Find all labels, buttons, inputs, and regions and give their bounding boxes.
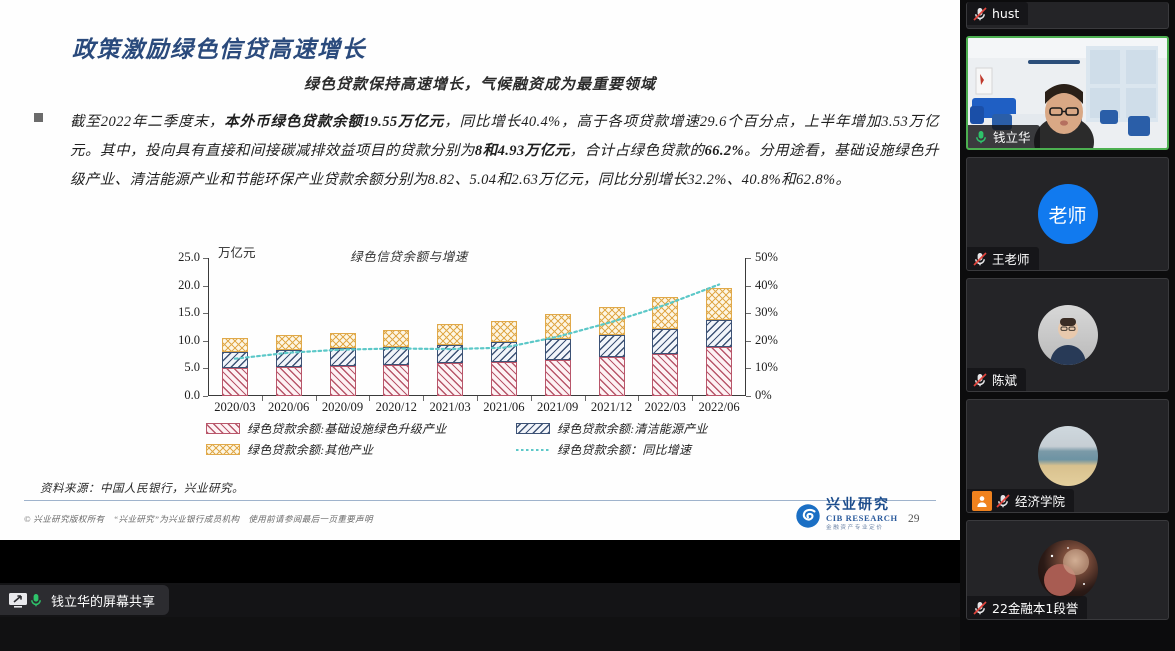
logo-text-block: 兴业研究 CIB RESEARCH 金融资产专业定价 bbox=[826, 499, 898, 532]
chart-y-tick-label: 5.0 bbox=[154, 360, 200, 375]
logo-name-cn: 兴业研究 bbox=[826, 499, 898, 513]
host-badge-icon bbox=[972, 491, 992, 511]
screenshare-label: 钱立华的屏幕共享 bbox=[51, 591, 155, 610]
avatar bbox=[1038, 305, 1098, 365]
square-bullet-icon bbox=[34, 113, 43, 122]
avatar-initials: 老师 bbox=[1048, 201, 1086, 228]
chart-growth-line bbox=[208, 258, 746, 396]
chart-y2-tick bbox=[746, 286, 751, 287]
participant-name: hust bbox=[992, 6, 1019, 21]
body-bold-2: 8和4.93万亿元 bbox=[475, 143, 570, 159]
body-bold-3: 66.2% bbox=[705, 143, 744, 159]
microphone-muted-icon bbox=[972, 600, 988, 616]
bullet-body-text: 截至2022年二季度末，本外币绿色贷款余额19.55万亿元，同比增长40.4%，… bbox=[70, 108, 939, 195]
participant-name-chip: 经济学院 bbox=[967, 489, 1074, 512]
legend-item[interactable]: 绿色贷款余额:其他产业 bbox=[206, 441, 373, 458]
chart-y-tick-label: 0.0 bbox=[154, 388, 200, 403]
chart-y2-tick bbox=[746, 341, 751, 342]
page-title: 政策激励绿色信贷高速增长 bbox=[72, 30, 366, 64]
slide-subtitle: 绿色贷款保持高速增长，气候融资成为最重要领域 bbox=[0, 73, 960, 94]
screenshare-bottom-bar: 钱立华的屏幕共享 bbox=[0, 583, 960, 617]
bullet-paragraph: 截至2022年二季度末，本外币绿色贷款余额19.55万亿元，同比增长40.4%，… bbox=[34, 108, 939, 195]
avatar-person-photo bbox=[1038, 305, 1098, 365]
chart-x-axis-labels: 2020/032020/062020/092020/122021/032021/… bbox=[208, 400, 746, 418]
screen-share-icon bbox=[8, 592, 28, 608]
participant-tile-2[interactable]: 钱立华 bbox=[966, 36, 1169, 150]
avatar-space-photo bbox=[1038, 540, 1098, 600]
chart-x-tick-label: 2022/06 bbox=[686, 400, 752, 415]
legend-swatch-pattern bbox=[206, 444, 240, 455]
chart-y2-tick-label: 10% bbox=[755, 360, 797, 375]
presentation-slide: 政策激励绿色信贷高速增长 绿色贷款保持高速增长，气候融资成为最重要领域 截至20… bbox=[0, 0, 960, 540]
participant-tile-4[interactable]: 陈斌 bbox=[966, 278, 1169, 392]
legend-label: 绿色贷款余额:其他产业 bbox=[247, 441, 373, 458]
cib-research-logo-icon bbox=[795, 503, 821, 529]
chart-y2-tick-label: 50% bbox=[755, 250, 797, 265]
participant-name-chip: 22金融本1段誉 bbox=[967, 596, 1087, 619]
participant-tile-6[interactable]: 22金融本1段誉 bbox=[966, 520, 1169, 620]
copyright-note: © 兴业研究版权所有 “兴业研究”为兴业银行成员机构 使用前请参阅最后一页重要声… bbox=[24, 513, 373, 525]
microphone-muted-icon bbox=[972, 6, 988, 22]
participant-tile-1[interactable]: hust bbox=[966, 2, 1169, 29]
logo-tagline: 金融资产专业定价 bbox=[826, 524, 898, 532]
chart-legend: 绿色贷款余额:基础设施绿色升级产业绿色贷款余额:清洁能源产业绿色贷款余额:其他产… bbox=[206, 420, 766, 462]
legend-label: 绿色贷款余额:基础设施绿色升级产业 bbox=[247, 420, 446, 437]
screenshare-indicator[interactable]: 钱立华的屏幕共享 bbox=[0, 585, 169, 615]
chart-y-tick-label: 20.0 bbox=[154, 278, 200, 293]
logo-name-en: CIB RESEARCH bbox=[826, 513, 898, 524]
microphone-muted-icon bbox=[972, 251, 988, 267]
cib-research-logo: 兴业研究 CIB RESEARCH 金融资产专业定价 bbox=[795, 499, 898, 532]
chart-y-tick bbox=[203, 396, 208, 397]
chart-y2-tick-label: 40% bbox=[755, 278, 797, 293]
participant-name-chip: hust bbox=[967, 2, 1028, 25]
chart-y2-tick-label: 20% bbox=[755, 333, 797, 348]
chart-y-tick-label: 25.0 bbox=[154, 250, 200, 265]
slide-page-number: 29 bbox=[908, 513, 920, 525]
chart-y-tick-label: 10.0 bbox=[154, 333, 200, 348]
participant-name-chip: 王老师 bbox=[967, 247, 1039, 270]
legend-swatch-dotted-line bbox=[516, 444, 550, 455]
shared-screen-stage[interactable]: 政策激励绿色信贷高速增长 绿色贷款保持高速增长，气候融资成为最重要领域 截至20… bbox=[0, 0, 960, 617]
zoom-meeting-window: 政策激励绿色信贷高速增长 绿色贷款保持高速增长，气候融资成为最重要领域 截至20… bbox=[0, 0, 1175, 651]
chart-y2-tick bbox=[746, 313, 751, 314]
chart-y2-tick-label: 30% bbox=[755, 305, 797, 320]
chart-plot-area: 0.05.010.015.020.025.00%10%20%30%40%50% bbox=[208, 258, 746, 396]
microphone-on-icon bbox=[973, 129, 989, 145]
microphone-muted-icon bbox=[972, 372, 988, 388]
body-part-3: ，合计占绿色贷款的 bbox=[570, 143, 705, 159]
chart-y-tick-label: 15.0 bbox=[154, 305, 200, 320]
participant-name: 钱立华 bbox=[993, 127, 1031, 146]
participant-name: 经济学院 bbox=[1015, 491, 1065, 510]
legend-item[interactable]: 绿色贷款余额:清洁能源产业 bbox=[516, 420, 708, 437]
avatar: 老师 bbox=[1038, 184, 1098, 244]
participant-tile-5[interactable]: 经济学院 bbox=[966, 399, 1169, 513]
microphone-muted-icon bbox=[995, 493, 1011, 509]
legend-swatch-pattern bbox=[206, 423, 240, 434]
body-part-1: 截至2022年二季度末， bbox=[70, 114, 224, 130]
legend-item[interactable]: 绿色贷款余额：同比增速 bbox=[516, 441, 691, 458]
participant-tile-3[interactable]: 老师 王老师 bbox=[966, 157, 1169, 271]
avatar bbox=[1038, 540, 1098, 600]
participants-sidebar[interactable]: hust bbox=[960, 0, 1175, 651]
chart-green-credit-balance-growth: 万亿元 绿色信贷余额与增速 0.05.010.015.020.025.00%10… bbox=[160, 240, 800, 465]
participant-name: 王老师 bbox=[992, 249, 1030, 268]
avatar bbox=[1038, 426, 1098, 486]
legend-swatch-pattern bbox=[516, 423, 550, 434]
participant-name-chip: 陈斌 bbox=[967, 368, 1026, 391]
chart-y2-tick bbox=[746, 396, 751, 397]
body-bold-1: 本外币绿色贷款余额19.55万亿元 bbox=[224, 114, 444, 130]
legend-label: 绿色贷款余额：同比增速 bbox=[557, 441, 691, 458]
chart-y2-tick bbox=[746, 368, 751, 369]
microphone-on-icon bbox=[28, 592, 44, 608]
participant-name: 陈斌 bbox=[992, 370, 1017, 389]
legend-label: 绿色贷款余额:清洁能源产业 bbox=[557, 420, 708, 437]
chart-y2-tick-label: 0% bbox=[755, 388, 797, 403]
source-note: 资料来源：中国人民银行，兴业研究。 bbox=[40, 480, 244, 496]
chart-y2-tick bbox=[746, 258, 751, 259]
legend-item[interactable]: 绿色贷款余额:基础设施绿色升级产业 bbox=[206, 420, 446, 437]
participant-name-chip: 钱立华 bbox=[968, 125, 1040, 148]
participant-name: 22金融本1段誉 bbox=[992, 598, 1078, 617]
